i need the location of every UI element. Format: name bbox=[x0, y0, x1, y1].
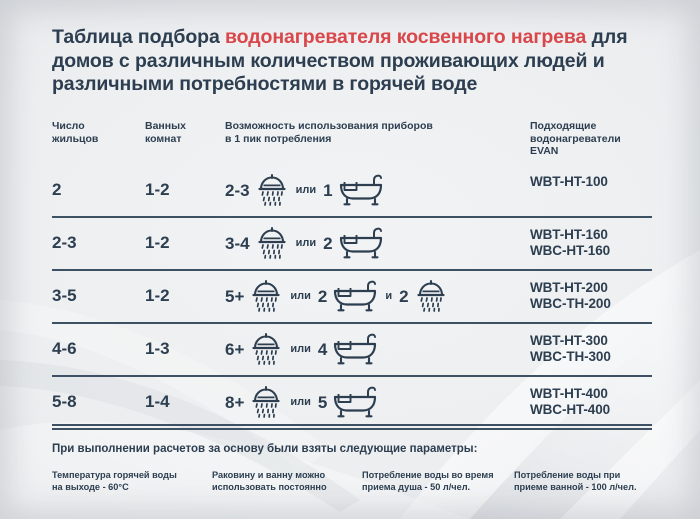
cell-residents: 2-3 bbox=[52, 233, 77, 253]
usage-quantity: 2-3 bbox=[225, 182, 250, 199]
usage-icon-slot bbox=[338, 173, 384, 207]
title-part-1: Таблица подбора bbox=[52, 26, 225, 48]
table-column-headers: Число жильцов Ванных комнат Возможность … bbox=[52, 120, 672, 166]
row-divider bbox=[52, 216, 652, 218]
usage-quantity: 6+ bbox=[225, 341, 244, 358]
shower-icon bbox=[250, 384, 282, 420]
model-code: WBC-HT-160 bbox=[530, 243, 610, 259]
bathtub-icon bbox=[338, 226, 384, 260]
bathtub-icon bbox=[338, 173, 384, 207]
usage-quantity: 2 bbox=[318, 288, 327, 305]
usage-icon-slot bbox=[255, 172, 289, 208]
usage-quantity: 2 bbox=[399, 288, 408, 305]
cell-models: WBT-HT-100 bbox=[530, 174, 608, 190]
footer-divider bbox=[52, 424, 652, 426]
table-row: 4-61-36+ или4 WBT-HT-300WBC-TH-300 bbox=[52, 325, 652, 377]
footer-intro: При выполнении расчетов за основу были в… bbox=[52, 443, 652, 455]
row-divider bbox=[52, 322, 652, 324]
cell-usage: 3-4 или2 bbox=[225, 219, 384, 267]
bathtub-icon bbox=[332, 332, 378, 366]
cell-models: WBT-HT-400WBC-HT-400 bbox=[530, 386, 610, 418]
page-title: Таблица подбора водонагревателя косвенно… bbox=[52, 26, 672, 97]
cell-usage: 2-3 или1 bbox=[225, 166, 384, 214]
usage-quantity: 8+ bbox=[225, 394, 244, 411]
cell-bathrooms: 1-2 bbox=[145, 286, 170, 306]
cell-residents: 2 bbox=[52, 180, 61, 200]
infographic-poster: Таблица подбора водонагревателя косвенно… bbox=[0, 0, 700, 519]
usage-icon-slot bbox=[249, 384, 283, 420]
shower-icon bbox=[250, 278, 282, 314]
row-divider bbox=[52, 375, 652, 377]
cell-bathrooms: 1-2 bbox=[145, 180, 170, 200]
shower-icon bbox=[256, 172, 288, 208]
header-usage: Возможность использования приборов в 1 п… bbox=[225, 120, 555, 145]
model-code: WBT-HT-100 bbox=[530, 174, 608, 190]
cell-residents: 3-5 bbox=[52, 286, 77, 306]
cell-bathrooms: 1-3 bbox=[145, 339, 170, 359]
model-code: WBT-HT-400 bbox=[530, 386, 610, 402]
table-row: 5-81-48+ или5 WBT-HT-400WBC-HT-400 bbox=[52, 378, 652, 430]
usage-conjunction: или bbox=[296, 185, 317, 196]
cell-models: WBT-HT-300WBC-TH-300 bbox=[530, 333, 611, 365]
footer-notes: Температура горячей воды на выходе - 60°… bbox=[52, 470, 672, 506]
usage-quantity: 1 bbox=[323, 182, 332, 199]
shower-icon bbox=[250, 331, 282, 367]
cell-residents: 4-6 bbox=[52, 339, 77, 359]
cell-models: WBT-HT-160WBC-HT-160 bbox=[530, 227, 610, 259]
usage-icon-slot bbox=[255, 225, 289, 261]
usage-icon-slot bbox=[332, 385, 378, 419]
usage-icon-slot bbox=[332, 332, 378, 366]
row-divider bbox=[52, 269, 652, 271]
usage-conjunction: или bbox=[290, 344, 311, 355]
cell-bathrooms: 1-4 bbox=[145, 392, 170, 412]
cell-residents: 5-8 bbox=[52, 392, 77, 412]
header-bathrooms: Ванных комнат bbox=[145, 120, 225, 145]
usage-icon-slot bbox=[249, 278, 283, 314]
table-row: 21-22-3 или1 WBT-HT-100 bbox=[52, 166, 652, 218]
model-code: WBC-TH-300 bbox=[530, 349, 611, 365]
header-residents: Число жильцов bbox=[52, 120, 132, 145]
footer-note: Раковину и ванну можно использовать пост… bbox=[212, 470, 360, 493]
header-models: Подходящие водонагреватели EVAN bbox=[530, 120, 680, 158]
model-code: WBT-HT-200 bbox=[530, 280, 611, 296]
usage-quantity: 4 bbox=[318, 341, 327, 358]
usage-icon-slot bbox=[414, 278, 448, 314]
cell-usage: 5+ или2 и2 bbox=[225, 272, 448, 320]
model-code: WBC-HT-400 bbox=[530, 402, 610, 418]
usage-conjunction: или bbox=[290, 291, 311, 302]
usage-quantity: 5 bbox=[318, 394, 327, 411]
usage-quantity: 3-4 bbox=[225, 235, 250, 252]
cell-models: WBT-HT-200WBC-TH-200 bbox=[530, 280, 611, 312]
footer-note: Потребление воды во время приема душа - … bbox=[362, 470, 517, 493]
usage-quantity: 2 bbox=[323, 235, 332, 252]
usage-icon-slot bbox=[338, 226, 384, 260]
table-row: 3-51-25+ или2 и2 bbox=[52, 272, 652, 324]
bathtub-icon bbox=[332, 279, 378, 313]
usage-conjunction: и bbox=[385, 291, 392, 302]
footer-note: Температура горячей воды на выходе - 60°… bbox=[52, 470, 202, 493]
row-divider bbox=[52, 428, 652, 430]
cell-usage: 8+ или5 bbox=[225, 378, 378, 426]
usage-conjunction: или bbox=[296, 238, 317, 249]
table-row: 2-31-23-4 или2 WBT-HT-160WBC-HT-160 bbox=[52, 219, 652, 271]
bathtub-icon bbox=[332, 385, 378, 419]
model-code: WBT-HT-300 bbox=[530, 333, 611, 349]
usage-quantity: 5+ bbox=[225, 288, 244, 305]
footer-note: Потребление воды при приеме ванной - 100… bbox=[514, 470, 674, 493]
cell-bathrooms: 1-2 bbox=[145, 233, 170, 253]
usage-icon-slot bbox=[332, 279, 378, 313]
model-code: WBT-HT-160 bbox=[530, 227, 610, 243]
usage-icon-slot bbox=[249, 331, 283, 367]
shower-icon bbox=[415, 278, 447, 314]
model-code: WBC-TH-200 bbox=[530, 296, 611, 312]
shower-icon bbox=[256, 225, 288, 261]
usage-conjunction: или bbox=[290, 397, 311, 408]
title-accent: водонагревателя косвенного нагрева bbox=[225, 26, 586, 48]
cell-usage: 6+ или4 bbox=[225, 325, 378, 373]
